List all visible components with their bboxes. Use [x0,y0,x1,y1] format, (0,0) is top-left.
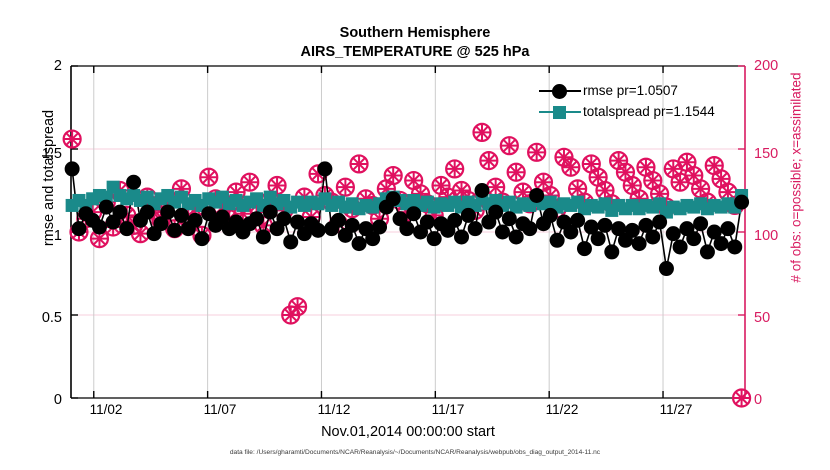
legend-key-totalspread [539,105,581,119]
rmse-point-marker [160,205,175,220]
rmse-point-marker [543,208,558,223]
rmse-point-marker [591,231,606,246]
rmse-point-marker [652,215,667,230]
rmse-point-marker [488,205,503,220]
rmse-point-marker [666,226,681,241]
rmse-point-marker [352,236,367,251]
rmse-point-marker [604,244,619,259]
rmse-point-marker [461,208,476,223]
rmse-point-marker [188,213,203,228]
chart-canvas: Southern Hemisphere AIRS_TEMPERATURE @ 5… [0,0,830,470]
legend-item-rmse[interactable]: rmse pr=1.0507 [539,80,745,101]
rmse-point-marker [522,221,537,236]
rmse-point-marker [99,200,114,215]
rmse-point-marker [570,213,585,228]
rmse-point-marker [65,161,80,176]
rmse-point-marker [406,206,421,221]
rmse-point-marker [345,218,360,233]
legend-label-totalspread: totalspread pr=1.1544 [581,104,715,119]
rmse-point-marker [632,236,647,251]
rmse-point-marker [529,188,544,203]
rmse-point-marker [577,241,592,256]
rmse-point-marker [317,161,332,176]
rmse-point-marker [700,244,715,259]
rmse-point-marker [454,229,469,244]
rmse-point-marker [399,221,414,236]
rmse-point-marker [686,231,701,246]
rmse-point-marker [283,234,298,249]
rmse-point-marker [645,229,660,244]
rmse-point-marker [673,239,688,254]
chart-legend: rmse pr=1.0507 totalspread pr=1.1544 [539,80,745,122]
rmse-point-marker [495,225,510,240]
rmse-point-marker [112,205,127,220]
rmse-point-marker [174,208,189,223]
rmse-point-marker [386,191,401,206]
rmse-point-marker [71,221,86,236]
rmse-point-marker [92,220,107,235]
rmse-point-marker [447,213,462,228]
rmse-point-marker [126,175,141,190]
circle-icon [552,84,567,99]
rmse-point-marker [597,218,612,233]
rmse-point-marker [502,211,517,226]
legend-label-rmse: rmse pr=1.0507 [581,83,678,98]
rmse-point-marker [659,261,674,276]
rmse-point-marker [727,239,742,254]
square-icon [553,106,566,119]
legend-item-totalspread[interactable]: totalspread pr=1.1544 [539,101,745,122]
rmse-point-marker [256,229,271,244]
rmse-point-marker [331,213,346,228]
plot-area [0,0,830,470]
rmse-point-marker [276,211,291,226]
legend-key-rmse [539,84,581,98]
rmse-point-marker [550,233,565,248]
rmse-point-marker [734,195,749,210]
rmse-point-marker [420,215,435,230]
rmse-point-marker [372,220,387,235]
rmse-point-marker [167,223,182,238]
obs-markers-group [64,124,750,407]
rmse-point-marker [509,229,524,244]
rmse-point-marker [625,223,640,238]
rmse-point-marker [140,205,155,220]
rmse-point-marker [693,216,708,231]
rmse-point-marker [119,221,134,236]
rmse-point-marker [194,231,209,246]
rmse-point-marker [263,205,278,220]
rmse-point-marker [720,221,735,236]
rmse-point-marker [427,231,442,246]
rmse-point-marker [475,183,490,198]
rmse-point-marker [714,236,729,251]
rmse-point-marker [249,211,264,226]
rmse-point-marker [311,223,326,238]
rmse-point-marker [468,221,483,236]
